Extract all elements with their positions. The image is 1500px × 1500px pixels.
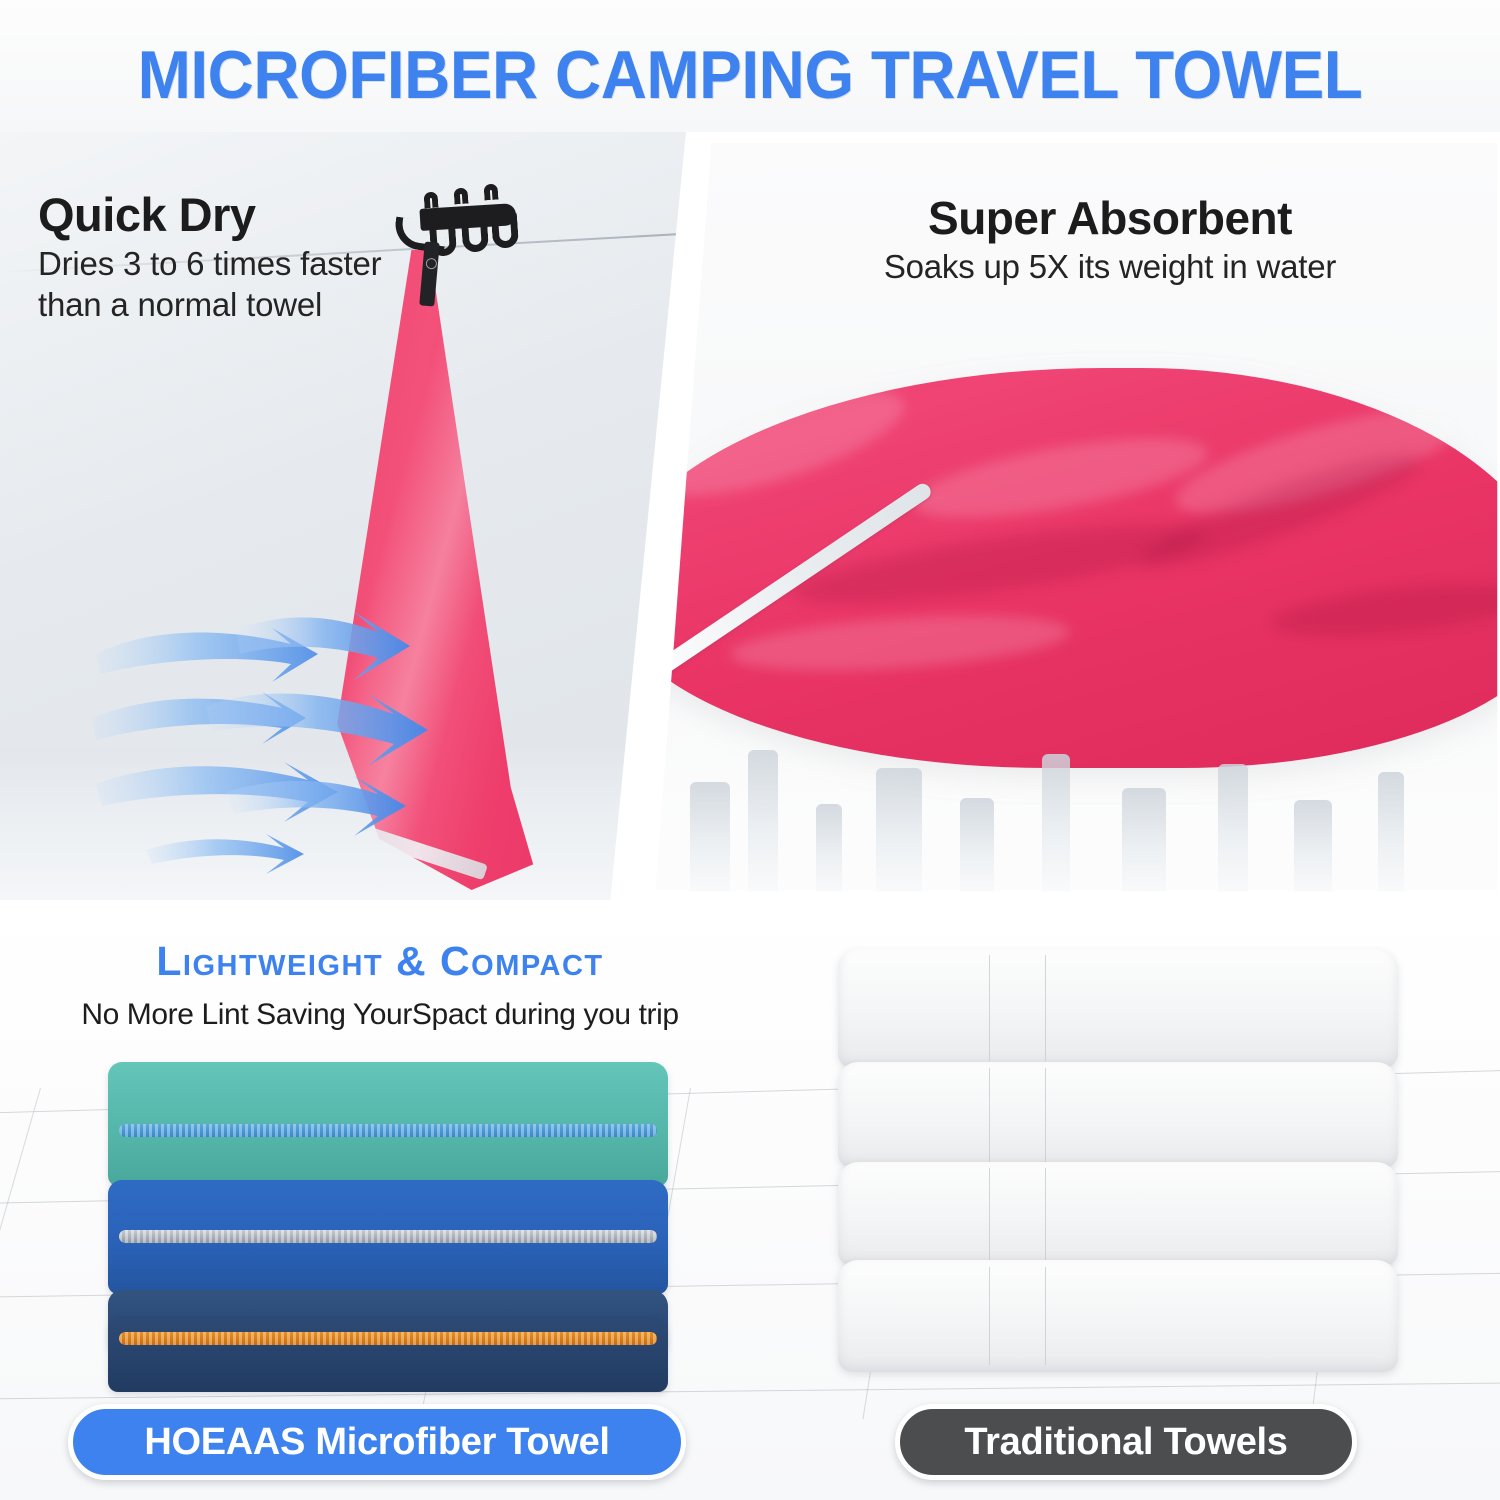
hook-u-0 [392,217,448,254]
white-towel-4 [838,1260,1398,1372]
panel-quick-dry: Quick Dry Dries 3 to 6 times faster than… [0,132,686,900]
super-absorbent-title: Super Absorbent [750,194,1470,243]
drip-8 [1218,764,1248,900]
drip-1 [690,782,730,900]
teal-towel [108,1062,668,1186]
traditional-towel-stack [838,948,1398,1388]
white-towel-2-seam-b [1045,1068,1046,1161]
airflow-arrows-icon [86,602,516,900]
drip-9 [1294,800,1332,900]
plank-seam-1 [0,1088,41,1319]
hook-u-2 [461,217,489,253]
super-absorbent-subtitle: Soaks up 5X its weight in water [750,247,1470,288]
drip-10 [1378,772,1404,900]
white-towel-1-seam-a [989,955,990,1061]
towel-hang-tag [419,241,440,306]
drip-7 [1122,788,1166,900]
hook-u-3 [491,213,519,249]
water-drips [630,700,1500,900]
hook-top-2 [453,188,468,205]
drip-5 [960,798,994,900]
teal-towel-trim [119,1124,657,1137]
white-towel-3-seam-a [989,1168,990,1260]
header-banner: MICROFIBER CAMPING TRAVEL TOWEL [0,0,1500,132]
quick-dry-subtitle-line2: than a normal towel [38,285,381,326]
white-towel-3-seam-b [1045,1168,1046,1260]
hook-top-3 [483,184,498,201]
white-towel-1-seam-b [1045,955,1046,1061]
quick-dry-title: Quick Dry [38,190,381,240]
dark-navy-towel-trim [119,1332,657,1345]
wall-hook-rack-icon [400,184,530,264]
drip-3 [816,804,842,900]
comparison-subtitle: No More Lint Saving YourSpact during you… [0,998,760,1032]
drip-4 [876,768,922,900]
white-towel-4-seam-a [989,1267,990,1366]
towel-fold-1 [646,370,915,517]
white-towel-2 [838,1062,1398,1168]
drip-6 [1042,754,1070,900]
drip-2 [748,750,778,900]
royal-blue-towel-trim [119,1230,657,1243]
badge-traditional-towels: Traditional Towels [895,1404,1357,1480]
super-absorbent-heading-block: Super Absorbent Soaks up 5X its weight i… [750,194,1470,288]
microfiber-towel-stack [108,1062,668,1392]
white-towel-1 [838,948,1398,1068]
towel-fold-2 [907,422,1213,533]
comparison-title: Lightweight & Compact [0,938,760,985]
white-towel-2-seam-a [989,1068,990,1161]
hook-top-1 [423,192,438,209]
dark-navy-towel [108,1316,668,1392]
towel-fold-4 [729,606,1072,680]
white-towel-3 [838,1162,1398,1266]
towel-shade-3 [1268,575,1500,646]
royal-blue-towel [108,1180,668,1294]
panel-super-absorbent: Super Absorbent Soaks up 5X its weight i… [630,132,1500,910]
white-towel-4-seam-b [1045,1267,1046,1366]
feature-panels-row: Quick Dry Dries 3 to 6 times faster than… [0,132,1500,910]
page-title: MICROFIBER CAMPING TRAVEL TOWEL [45,36,1455,114]
quick-dry-subtitle-line1: Dries 3 to 6 times faster [38,244,381,285]
badge-hoeaas-microfiber-towel: HOEAAS Microfiber Towel [68,1404,686,1480]
quick-dry-heading-block: Quick Dry Dries 3 to 6 times faster than… [38,190,381,326]
